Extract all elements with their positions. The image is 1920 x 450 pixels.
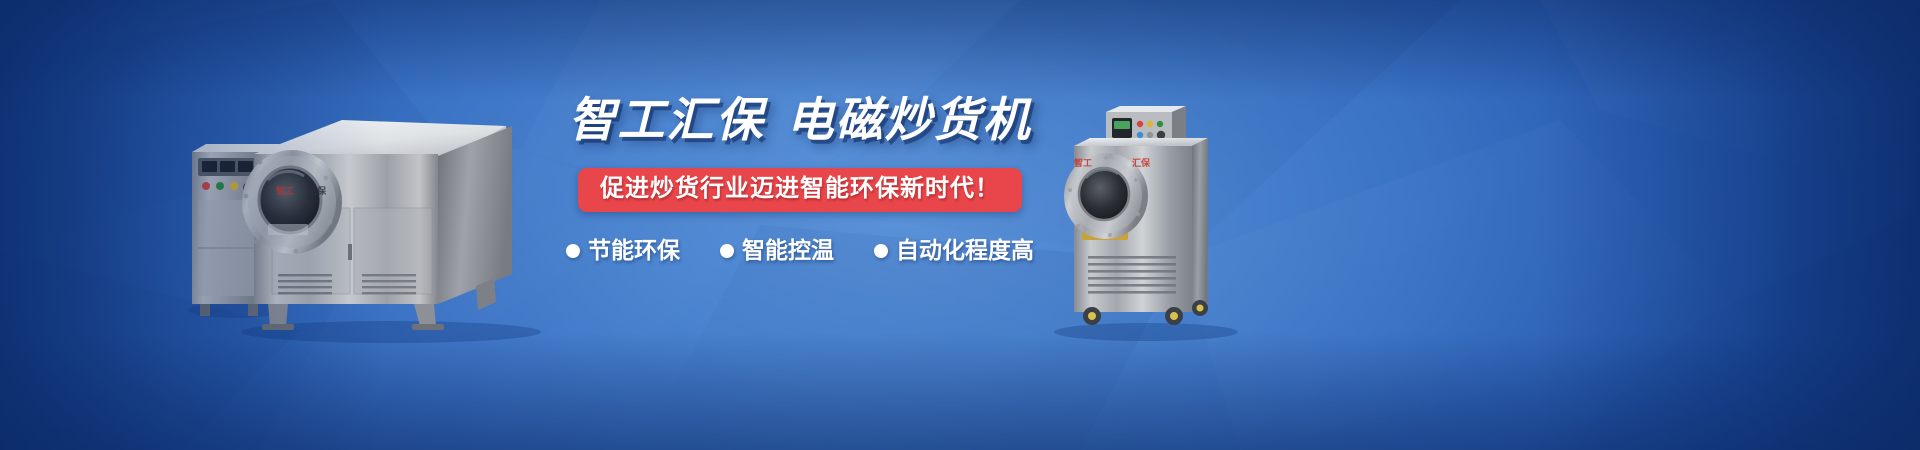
product-photo-small-machine: 智工 汇保 [1028, 104, 1258, 349]
promo-banner: 智工 汇保 [0, 0, 1920, 450]
headline-part-2: 电磁炒货机 [787, 93, 1032, 146]
brand-mark-left: 智工 [1074, 157, 1092, 168]
bullet-dot-icon [874, 244, 888, 258]
brand-mark-right: 汇保 [1132, 157, 1151, 168]
side-label-plate [268, 224, 308, 235]
feature-item-1: 节能环保 [566, 239, 680, 262]
copy-block: 智工汇保电磁炒货机 促进炒货行业迈进智能环保新时代！ 节能环保 智能控温 自动化… [560, 96, 1040, 326]
feature-label: 自动化程度高 [896, 239, 1034, 262]
feature-label: 节能环保 [588, 239, 680, 262]
feature-item-3: 自动化程度高 [874, 239, 1034, 262]
page-title: 智工汇保电磁炒货机 [569, 96, 1032, 143]
feature-label: 智能控温 [742, 239, 834, 262]
roasting-drum-large [242, 150, 342, 254]
feature-list: 节能环保 智能控温 自动化程度高 [566, 239, 1034, 262]
slogan-badge: 促进炒货行业迈进智能环保新时代！ [578, 168, 1022, 212]
feature-item-2: 智能控温 [720, 239, 834, 262]
product-photo-large-machine: 智工 汇保 [176, 96, 556, 351]
slogan-text: 促进炒货行业迈进智能环保新时代！ [600, 177, 1000, 201]
bullet-dot-icon [566, 244, 580, 258]
bullet-dot-icon [720, 244, 734, 258]
brand-mark-right: 汇保 [308, 185, 327, 196]
brand-mark-left: 智工 [276, 185, 294, 196]
headline-part-1: 智工汇保 [569, 93, 765, 146]
